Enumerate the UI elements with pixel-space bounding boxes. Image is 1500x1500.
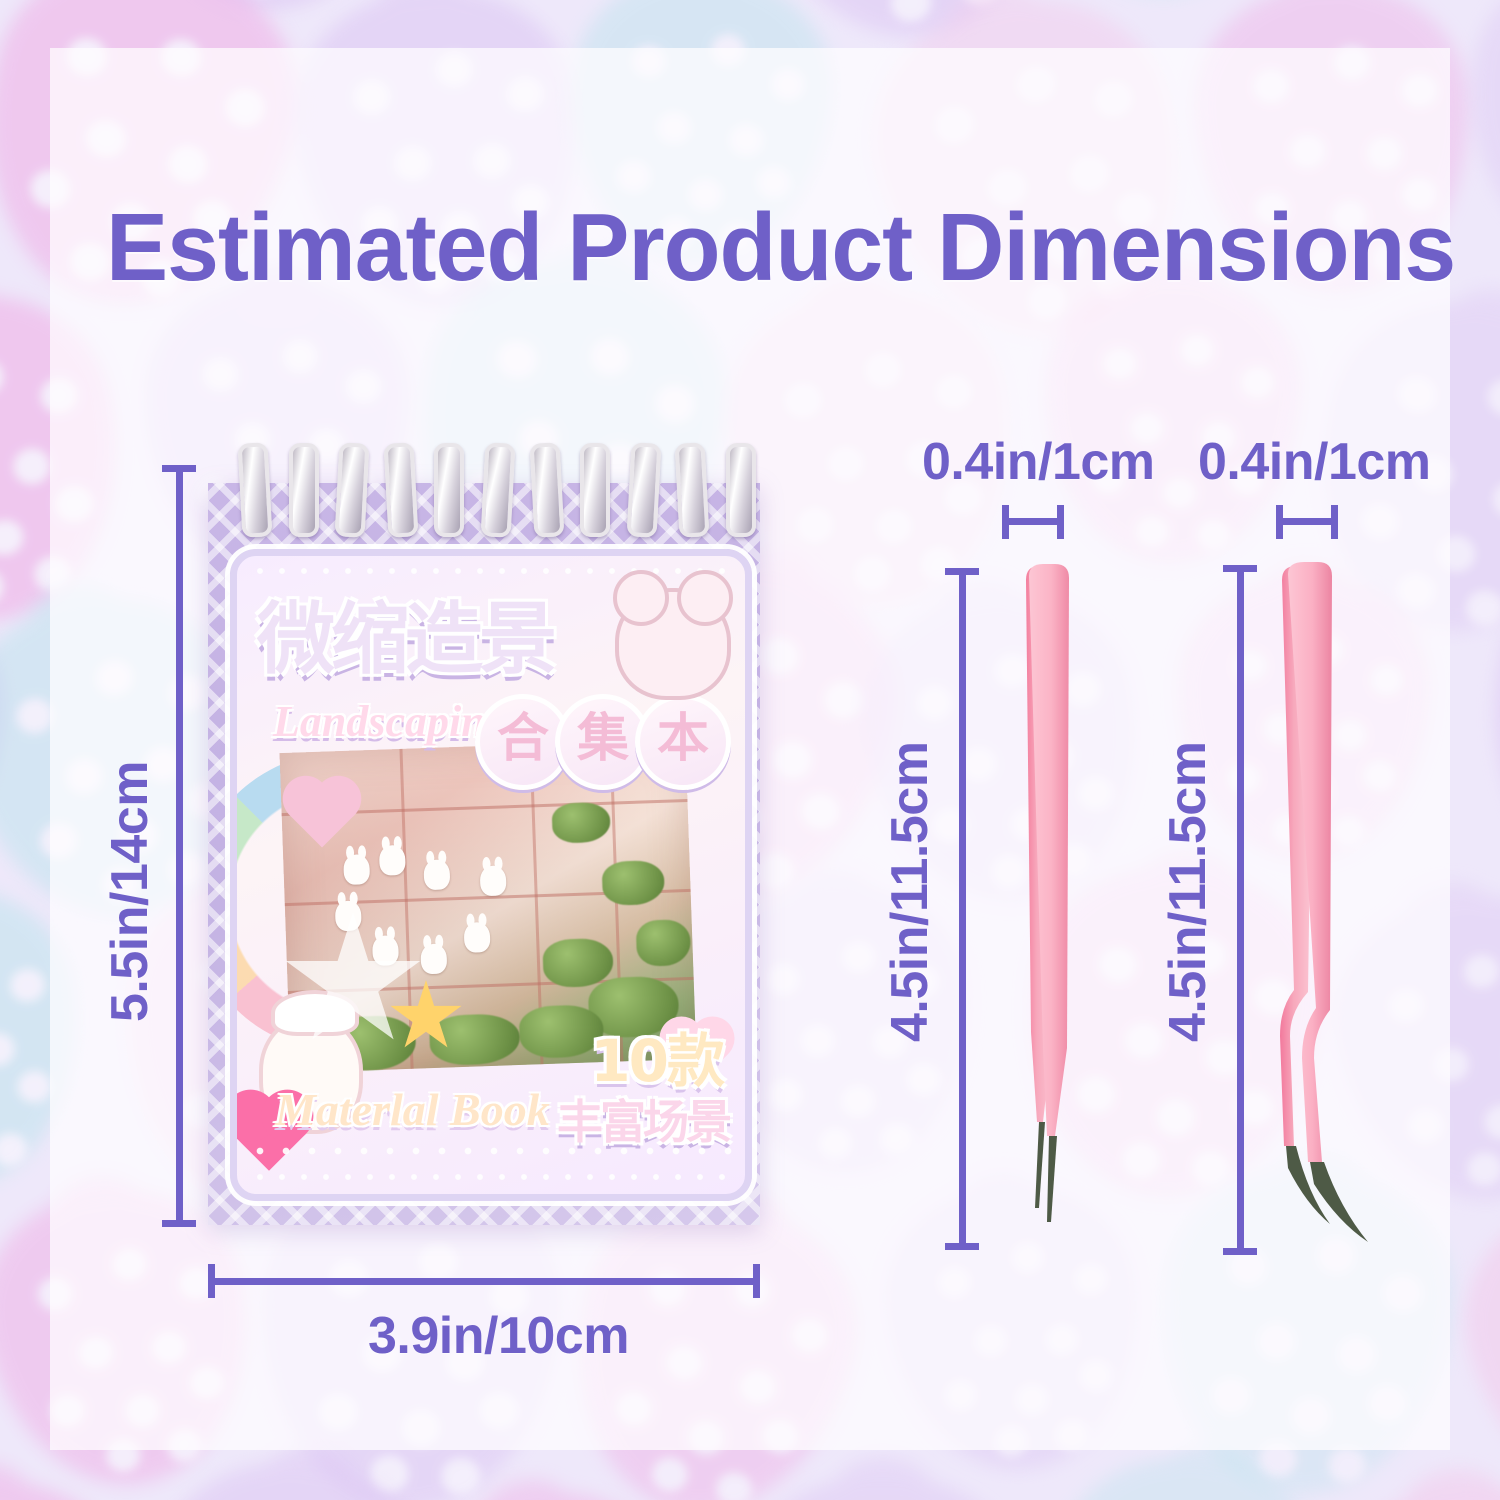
- tweezer-curved-height-line: [1237, 565, 1244, 1255]
- tweezer-straight-width-cap-right: [1057, 505, 1064, 539]
- cover-badge-3: 本: [635, 694, 731, 790]
- spiral-coil-icon: [675, 442, 710, 537]
- spiral-coil-icon: [626, 442, 661, 537]
- spiral-coil-icon: [238, 442, 273, 537]
- tweezer-straight-height-label: 4.5in/11.5cm: [880, 742, 940, 1042]
- tweezer-straight-svg: [995, 562, 1091, 1250]
- tweezer-curved-width-cap-right: [1331, 505, 1338, 539]
- spiral-binding: [208, 443, 760, 529]
- dot-border-top: [249, 564, 733, 578]
- tweezer-curved-width-label: 0.4in/1cm: [1198, 432, 1431, 492]
- notebook-width-cap-right: [753, 1264, 760, 1298]
- spiral-coil-icon: [289, 443, 319, 537]
- tweezer-curved-width-cap-left: [1276, 505, 1283, 539]
- bunny-figurine-icon: [335, 900, 362, 931]
- mouse-mascot-icon: [615, 588, 731, 700]
- product-notebook: 微缩造景 Landscaping 合 集 本 Materlal Book 10款…: [208, 483, 760, 1225]
- spiral-coil-icon: [726, 443, 756, 537]
- bunny-figurine-icon: [343, 854, 370, 885]
- product-tweezer-curved: [1268, 560, 1418, 1252]
- cover-title-latin: Landscaping: [273, 696, 508, 747]
- moss-foliage: [551, 802, 610, 844]
- spiral-coil-icon: [481, 442, 516, 537]
- tweezer-straight-height-line: [959, 568, 966, 1250]
- tweezer-straight-height-cap-top: [945, 568, 979, 575]
- tweezer-curved-width-line: [1276, 518, 1338, 525]
- tweezer-straight-width-line: [1002, 518, 1064, 525]
- notebook-width-label: 3.9in/10cm: [368, 1306, 629, 1366]
- strawberry-icon: [0, 1474, 149, 1500]
- tweezer-curved-height-label: 4.5in/11.5cm: [1158, 742, 1218, 1042]
- page-title: Estimated Product Dimensions: [106, 196, 1377, 300]
- notebook-height-cap-top: [162, 465, 196, 472]
- spiral-coil-icon: [434, 443, 464, 537]
- strawberry-body: [0, 1474, 149, 1500]
- cover-bottom-script: Materlal Book: [275, 1083, 550, 1136]
- notebook-width-cap-left: [208, 1264, 215, 1298]
- spiral-coil-icon: [383, 442, 418, 537]
- strawberry-icon: [735, 1477, 1030, 1500]
- product-tweezer-straight: [995, 562, 1091, 1250]
- bunny-figurine-icon: [464, 922, 491, 953]
- notebook-height-dimension-line: [176, 465, 183, 1227]
- spiral-coil-icon: [335, 442, 370, 537]
- moss-foliage: [602, 860, 665, 906]
- tweezer-straight-width-cap-left: [1002, 505, 1009, 539]
- dot-border-bottom: [249, 1170, 733, 1184]
- spiral-coil-icon: [580, 443, 610, 537]
- spiral-coil-icon: [529, 442, 564, 537]
- notebook-width-dimension-line: [208, 1278, 760, 1285]
- cover-artwork: 微缩造景 Landscaping 合 集 本 Materlal Book 10款…: [230, 549, 752, 1201]
- notebook-height-label: 5.5in/14cm: [100, 761, 160, 1022]
- bunny-figurine-icon: [423, 859, 450, 890]
- notebook-height-cap-bottom: [162, 1220, 196, 1227]
- strawberry-body: [735, 1477, 1030, 1500]
- tweezer-curved-height-cap-bottom: [1223, 1248, 1257, 1255]
- bunny-figurine-icon: [480, 865, 507, 896]
- tweezer-straight-height-cap-bottom: [945, 1243, 979, 1250]
- bunny-figurine-icon: [420, 943, 447, 974]
- cover-title-cn: 微缩造景: [257, 594, 587, 690]
- tweezer-straight-width-label: 0.4in/1cm: [922, 432, 1155, 492]
- tweezer-curved-height-cap-top: [1223, 565, 1257, 572]
- cover-bottom-ribbon: [247, 1134, 735, 1168]
- bunny-figurine-icon: [379, 845, 406, 876]
- tweezer-curved-svg: [1268, 560, 1418, 1252]
- moss-foliage: [636, 919, 692, 967]
